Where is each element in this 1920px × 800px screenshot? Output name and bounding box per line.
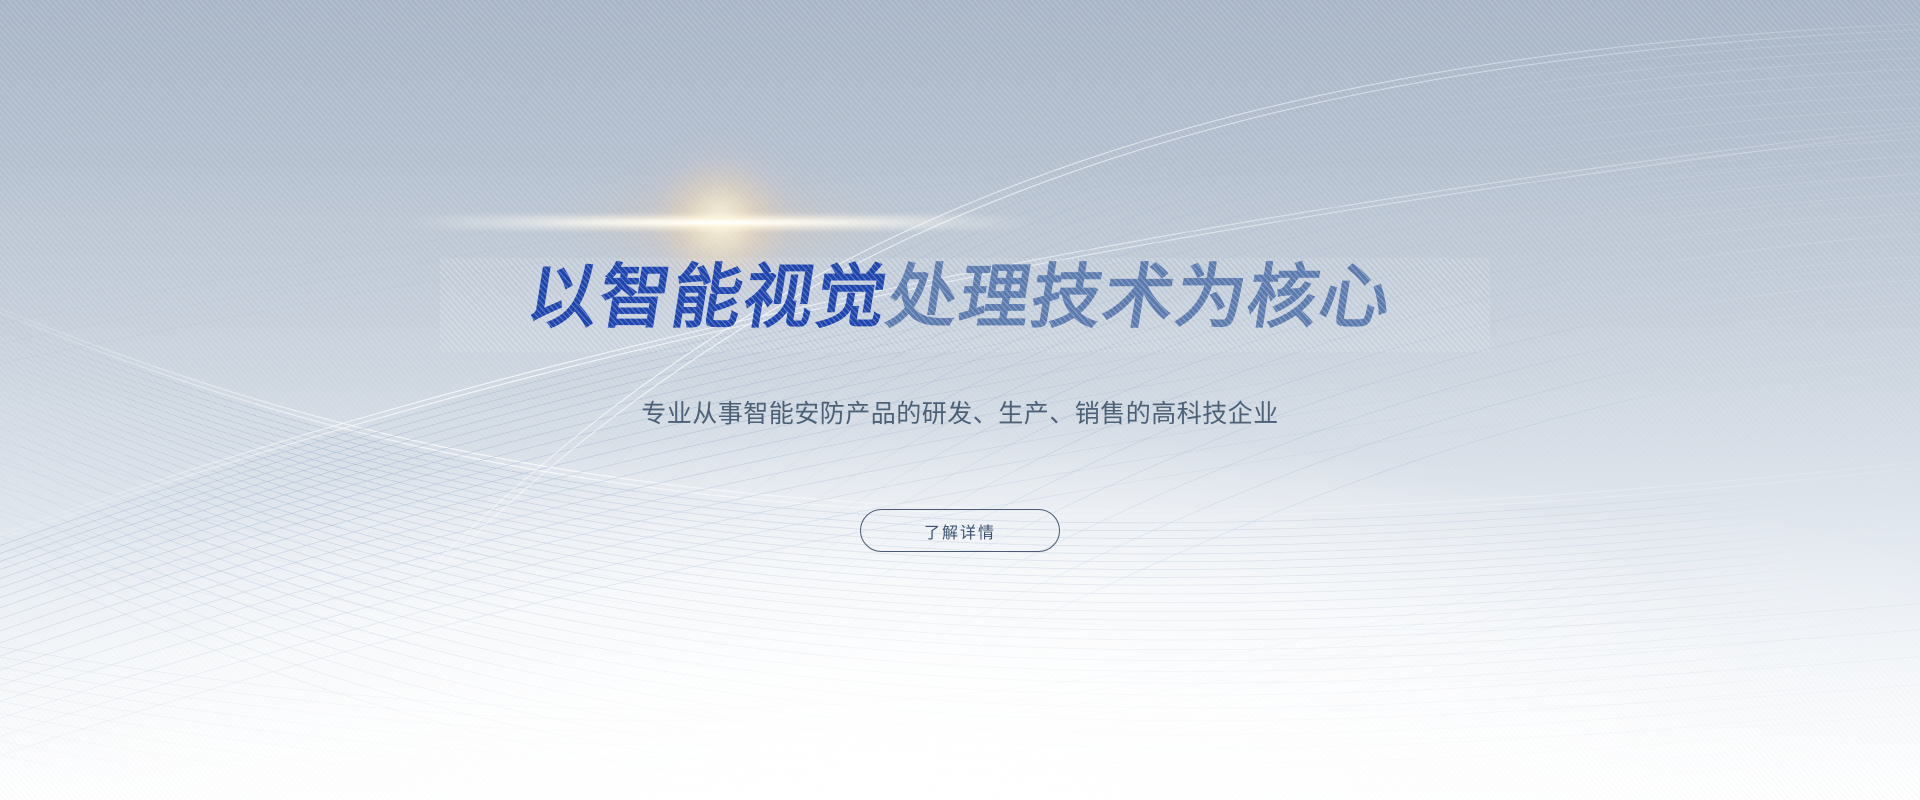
headline-texture-overlay (440, 258, 1490, 352)
background-diagonal-hatch-dark (0, 0, 1920, 800)
headline-rest: 处理技术为核心 (882, 262, 1397, 332)
headline-emphasis: 以智能视觉 (522, 262, 893, 332)
lens-flare-core-icon (629, 131, 811, 313)
lens-flare-streak-hot (520, 220, 920, 225)
hero-subtitle: 专业从事智能安防产品的研发、生产、销售的高科技企业 (0, 398, 1920, 431)
lens-flare-warm-halo (560, 175, 890, 271)
lens-flare-streak (405, 216, 1035, 229)
cta-container: 了解详情 (0, 509, 1920, 552)
page-title: 以智能视觉处理技术为核心 (0, 262, 1920, 332)
hero-content: 以智能视觉处理技术为核心 专业从事智能安防产品的研发、生产、销售的高科技企业 了… (0, 0, 1920, 800)
background-diagonal-hatch-light (0, 0, 1920, 800)
hero-banner: 以智能视觉处理技术为核心 专业从事智能安防产品的研发、生产、销售的高科技企业 了… (0, 0, 1920, 800)
background-top-tint (0, 0, 1920, 800)
wave-mesh-graphic (0, 0, 1920, 800)
background-bottom-glow (0, 0, 1920, 800)
learn-more-button[interactable]: 了解详情 (860, 509, 1060, 552)
